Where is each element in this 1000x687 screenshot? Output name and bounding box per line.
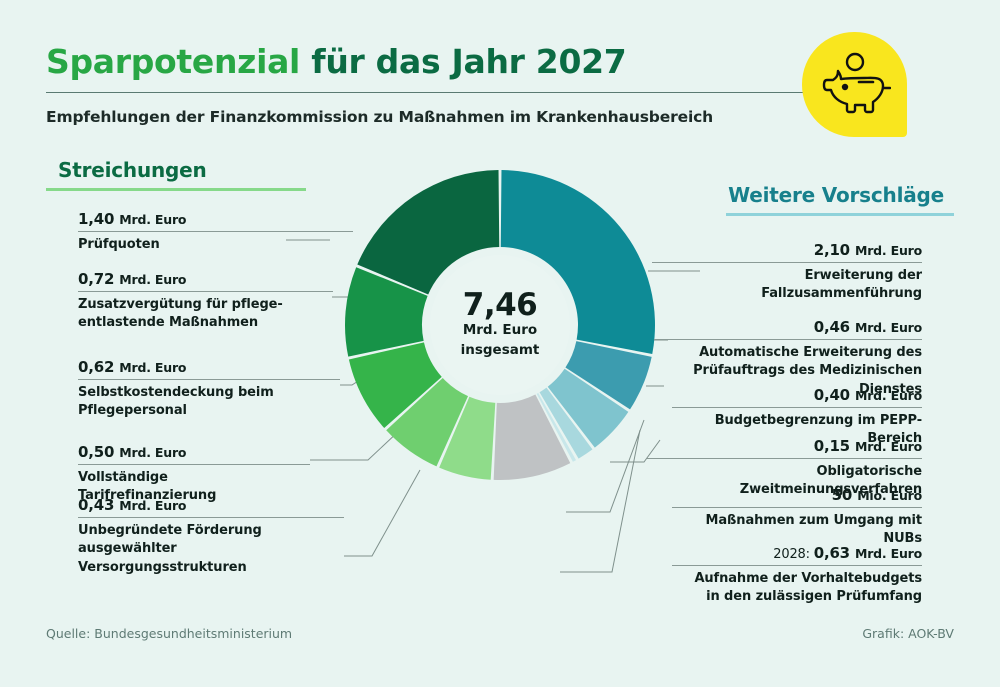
total-caption: insgesamt bbox=[461, 341, 540, 361]
total-value: 7,46 bbox=[463, 290, 538, 321]
item-description: Zusatzvergütung für pflege-entlastende M… bbox=[78, 292, 333, 333]
donut-center-label: 7,46 Mrd. Euro insgesamt bbox=[430, 255, 570, 395]
item-description: Selbstkostendeckung beimPflegepersonal bbox=[78, 380, 340, 421]
item-description: Unbegründete Förderung ausgewählterVerso… bbox=[78, 518, 344, 577]
infographic-root: Sparpotenzial für das Jahr 2027 Empfehlu… bbox=[0, 0, 1000, 687]
item-zusatzverguetung: 0,72 Mrd. Euro Zusatzvergütung für pfleg… bbox=[78, 270, 333, 333]
item-description: Aufnahme der Vorhaltebudgetsin den zuläs… bbox=[672, 566, 922, 607]
item-pruefquoten: 1,40 Mrd. Euro Prüfquoten bbox=[78, 210, 353, 254]
item-value: 0,50 Mrd. Euro bbox=[78, 443, 310, 464]
item-value: 50 Mio. Euro bbox=[672, 486, 922, 507]
item-value: 2028: 0,63 Mrd. Euro bbox=[672, 544, 922, 565]
item-value: 0,72 Mrd. Euro bbox=[78, 270, 333, 291]
item-value: 0,43 Mrd. Euro bbox=[78, 496, 344, 517]
item-description: Maßnahmen zum Umgang mit NUBs bbox=[672, 508, 922, 549]
item-fallzusammenfuehrung: 2,10 Mrd. Euro Erweiterung der Fallzusam… bbox=[652, 241, 922, 304]
item-value: 0,15 Mrd. Euro bbox=[647, 437, 922, 458]
credit-note: Grafik: AOK-BV bbox=[862, 626, 954, 641]
item-value: 1,40 Mrd. Euro bbox=[78, 210, 353, 231]
total-unit: Mrd. Euro bbox=[463, 321, 537, 341]
item-nubs: 50 Mio. Euro Maßnahmen zum Umgang mit NU… bbox=[672, 486, 922, 549]
item-value: 0,40 Mrd. Euro bbox=[672, 386, 922, 407]
item-foerderung-versorgungsstrukturen: 0,43 Mrd. Euro Unbegründete Förderung au… bbox=[78, 496, 344, 577]
item-description: Erweiterung der Fallzusammenführung bbox=[652, 263, 922, 304]
item-description: Prüfquoten bbox=[78, 232, 353, 254]
item-vorhaltebudgets: 2028: 0,63 Mrd. Euro Aufnahme der Vorhal… bbox=[672, 544, 922, 607]
source-note: Quelle: Bundesgesundheitsministerium bbox=[46, 626, 292, 641]
item-value: 2,10 Mrd. Euro bbox=[652, 241, 922, 262]
item-value: 0,62 Mrd. Euro bbox=[78, 358, 340, 379]
item-value: 0,46 Mrd. Euro bbox=[654, 318, 922, 339]
item-selbstkostendeckung: 0,62 Mrd. Euro Selbstkostendeckung beimP… bbox=[78, 358, 340, 421]
